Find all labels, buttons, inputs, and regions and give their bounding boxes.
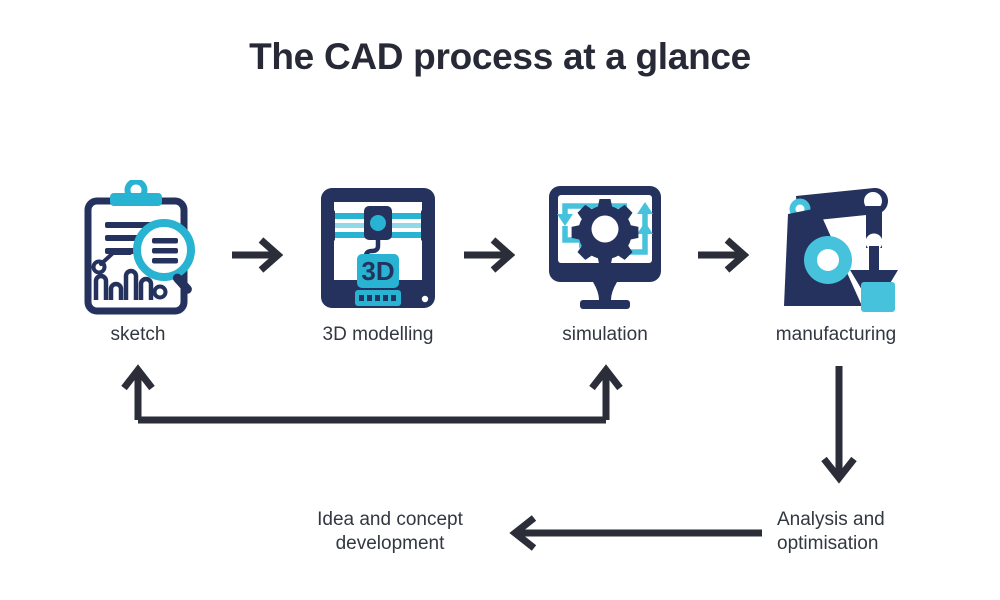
caption-idea-line2: development	[290, 532, 490, 556]
robot-arm-icon	[751, 178, 921, 318]
clipboard-chart-magnifier-icon	[53, 178, 223, 318]
stage-sketch: sketch	[53, 178, 223, 346]
diagram-canvas: The CAD process at a glance	[0, 0, 1000, 600]
stage-label-3d-modelling: 3D modelling	[293, 324, 463, 346]
stage-label-manufacturing: manufacturing	[751, 324, 921, 346]
arrow-simulation-to-manufacturing	[696, 235, 751, 280]
connector-analysis-to-idea	[500, 512, 770, 562]
stage-label-simulation: simulation	[520, 324, 690, 346]
printer-3d-text: 3D	[361, 256, 394, 286]
caption-idea-and-concept-development: Idea and concept development	[290, 508, 490, 556]
arrow-modelling-to-simulation	[462, 235, 517, 280]
connector-feedback-loop	[110, 362, 640, 437]
stage-manufacturing: manufacturing	[751, 178, 921, 346]
caption-idea-line1: Idea and concept	[290, 508, 490, 532]
caption-analysis-line1: Analysis and	[777, 508, 967, 532]
page-title: The CAD process at a glance	[0, 36, 1000, 78]
3d-printer-icon: 3D	[293, 178, 463, 318]
connector-manufacturing-to-analysis	[812, 362, 868, 495]
stage-label-sketch: sketch	[53, 324, 223, 346]
stage-3d-modelling: 3D 3D modelling	[293, 178, 463, 346]
caption-analysis-line2: optimisation	[777, 532, 967, 556]
monitor-gear-cycle-icon	[520, 178, 690, 318]
caption-analysis-and-optimisation: Analysis and optimisation	[777, 508, 967, 556]
arrow-sketch-to-modelling	[230, 235, 285, 280]
stage-simulation: simulation	[520, 178, 690, 346]
